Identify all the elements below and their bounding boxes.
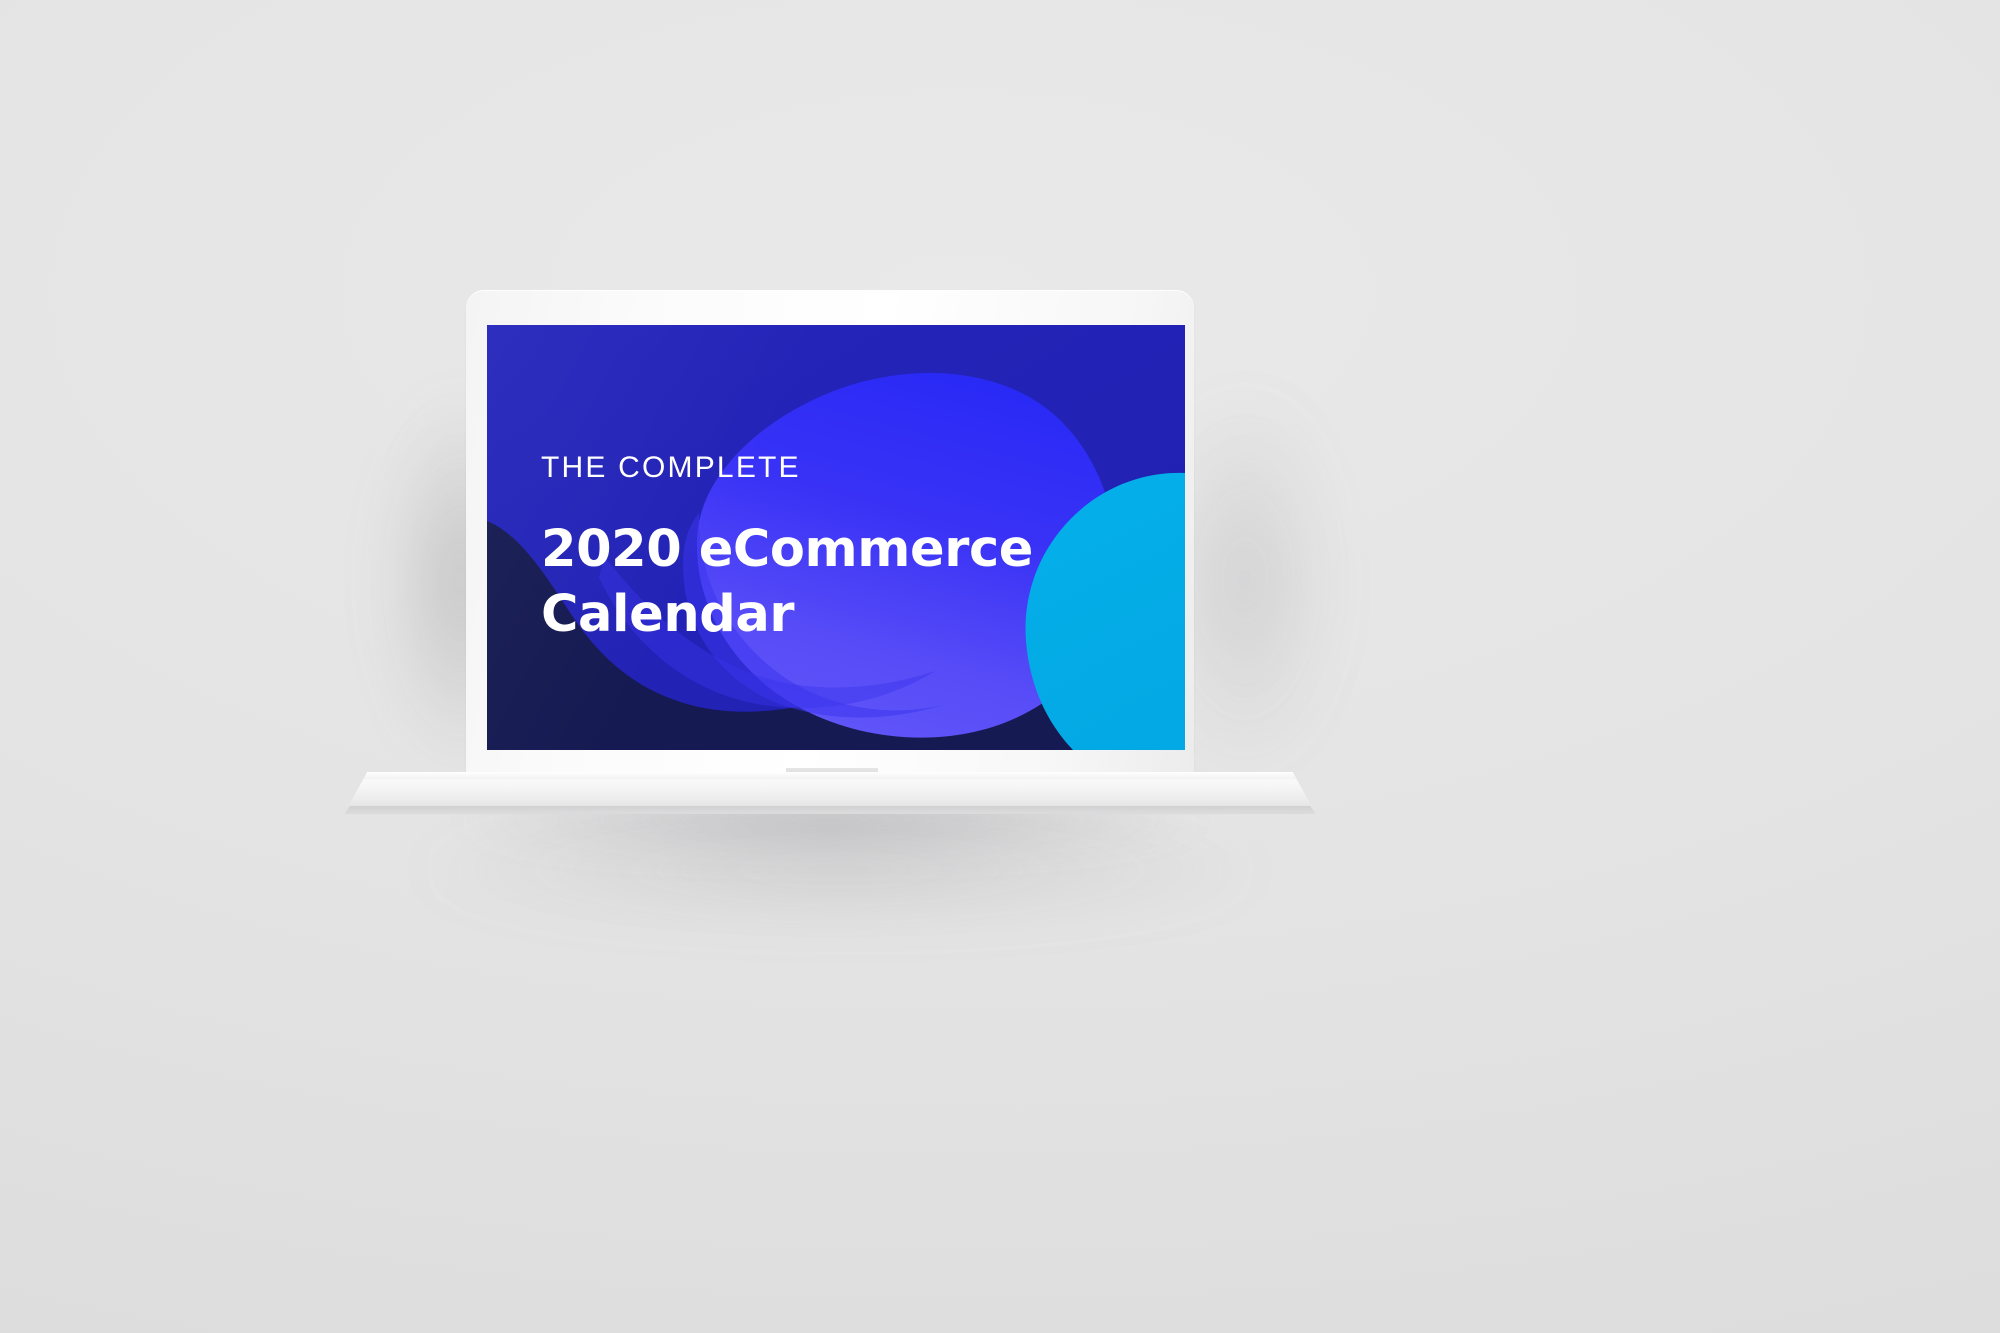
slide-text-block: THE COMPLETE 2020 eCommerce Calendar [541, 453, 1161, 648]
slide-eyebrow: THE COMPLETE [541, 453, 1161, 483]
slide-headline-line-2: Calendar [541, 582, 1161, 647]
laptop-base-top-edge [344, 772, 1316, 779]
slide-headline: 2020 eCommerce Calendar [541, 517, 1161, 648]
laptop-base-front-shadow [344, 806, 1316, 815]
laptop-screen: THE COMPLETE 2020 eCommerce Calendar [487, 325, 1185, 750]
screenshot-canvas: THE COMPLETE 2020 eCommerce Calendar [0, 0, 2000, 1333]
slide-headline-line-1: 2020 eCommerce [541, 517, 1161, 582]
laptop-mockup: THE COMPLETE 2020 eCommerce Calendar [0, 0, 2000, 1333]
